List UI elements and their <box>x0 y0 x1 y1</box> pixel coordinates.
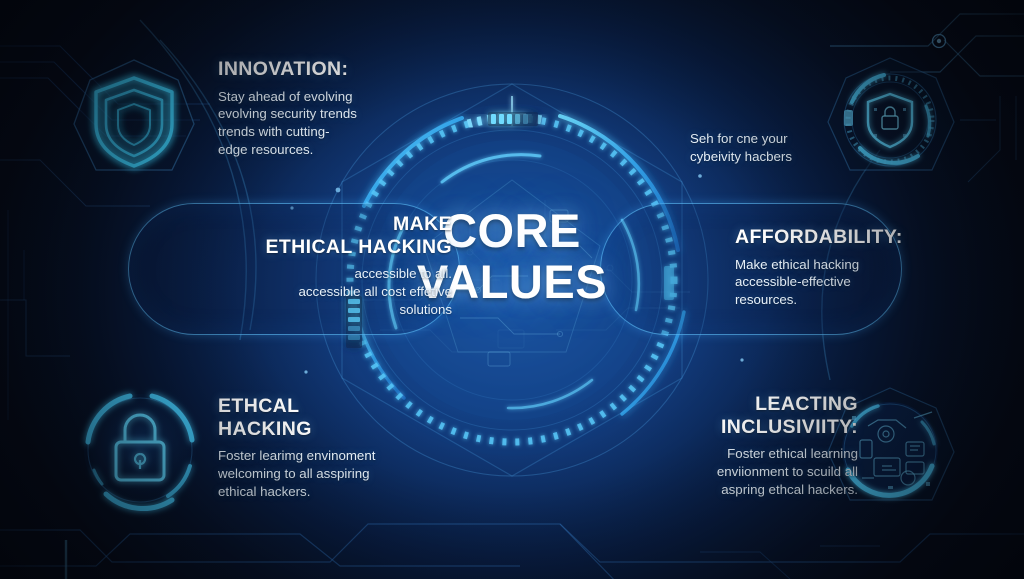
innovation-line-4: edge resources. <box>218 141 418 159</box>
shield-lock-hud-icon <box>822 52 958 188</box>
value-block-search: Seh for cne your cybeivity hacbers <box>690 130 890 166</box>
make-ethical-heading: MAKE ETHICAL HACKING <box>176 213 452 258</box>
make-ethical-line-2: accessible all cost effetive <box>176 283 452 301</box>
innovation-heading: INNOVATION: <box>218 58 418 81</box>
search-body: Seh for cne your cybeivity hacbers <box>690 130 890 166</box>
search-line-1: Seh for cne your <box>690 130 890 148</box>
affordability-body: Make ethical hacking accessible-effectiv… <box>735 256 955 309</box>
inclusivity-heading: LEACTING INCLUSIVIITY: <box>620 393 858 438</box>
value-block-innovation: INNOVATION: Stay ahead of evolving evolv… <box>218 58 418 159</box>
ethical-hacking-line-1: Foster learimg envinoment <box>218 447 478 465</box>
ethical-hacking-heading-line-1: ETHCAL <box>218 395 299 417</box>
make-ethical-line-3: solutions <box>176 301 452 319</box>
inclusivity-body: Foster ethical learning enviionment to s… <box>620 445 858 498</box>
innovation-line-3: trends with cutting- <box>218 123 418 141</box>
make-ethical-heading-line-1: MAKE <box>393 213 452 235</box>
core-values-poster: CORE VALUES INNOVATION: Stay ahead of ev… <box>0 0 1024 579</box>
inclusivity-line-1: Foster ethical learning <box>620 445 858 463</box>
padlock-icon <box>72 382 208 518</box>
affordability-heading: AFFORDABILITY: <box>735 226 955 249</box>
affordability-line-1: Make ethical hacking <box>735 256 955 274</box>
value-block-inclusivity: LEACTING INCLUSIVIITY: Foster ethical le… <box>620 393 858 499</box>
value-block-ethical-hacking: ETHCAL HACKING Foster learimg envinoment… <box>218 395 478 501</box>
innovation-body: Stay ahead of evolving evolving security… <box>218 88 418 159</box>
ethical-hacking-line-3: ethical hackers. <box>218 483 478 501</box>
value-block-make-ethical-hacking: MAKE ETHICAL HACKING accessible to all. … <box>176 213 452 319</box>
inclusivity-heading-line-1: LEACTING <box>755 393 858 415</box>
make-ethical-heading-line-2: ETHICAL HACKING <box>265 236 452 258</box>
make-ethical-body: accessible to all. accessible all cost e… <box>176 265 452 318</box>
ethical-hacking-line-2: welcoming to all asspiring <box>218 465 478 483</box>
inclusivity-line-2: enviionment to scuild all <box>620 463 858 481</box>
inclusivity-line-3: aspring ethcal hackers. <box>620 481 858 499</box>
inclusivity-heading-line-2: INCLUSIVIITY: <box>721 416 858 438</box>
value-block-affordability: AFFORDABILITY: Make ethical hacking acce… <box>735 226 955 309</box>
ethical-hacking-body: Foster learimg envinoment welcoming to a… <box>218 447 478 500</box>
make-ethical-line-1: accessible to all. <box>176 265 452 283</box>
affordability-line-2: accessible-effective <box>735 273 955 291</box>
affordability-line-3: resources. <box>735 291 955 309</box>
ethical-hacking-heading-line-2: HACKING <box>218 418 312 440</box>
ethical-hacking-heading: ETHCAL HACKING <box>218 395 478 440</box>
shield-icon <box>66 52 202 188</box>
search-line-2: cybeivity hacbers <box>690 148 890 166</box>
innovation-line-1: Stay ahead of evolving <box>218 88 418 106</box>
innovation-line-2: evolving security trends <box>218 105 418 123</box>
